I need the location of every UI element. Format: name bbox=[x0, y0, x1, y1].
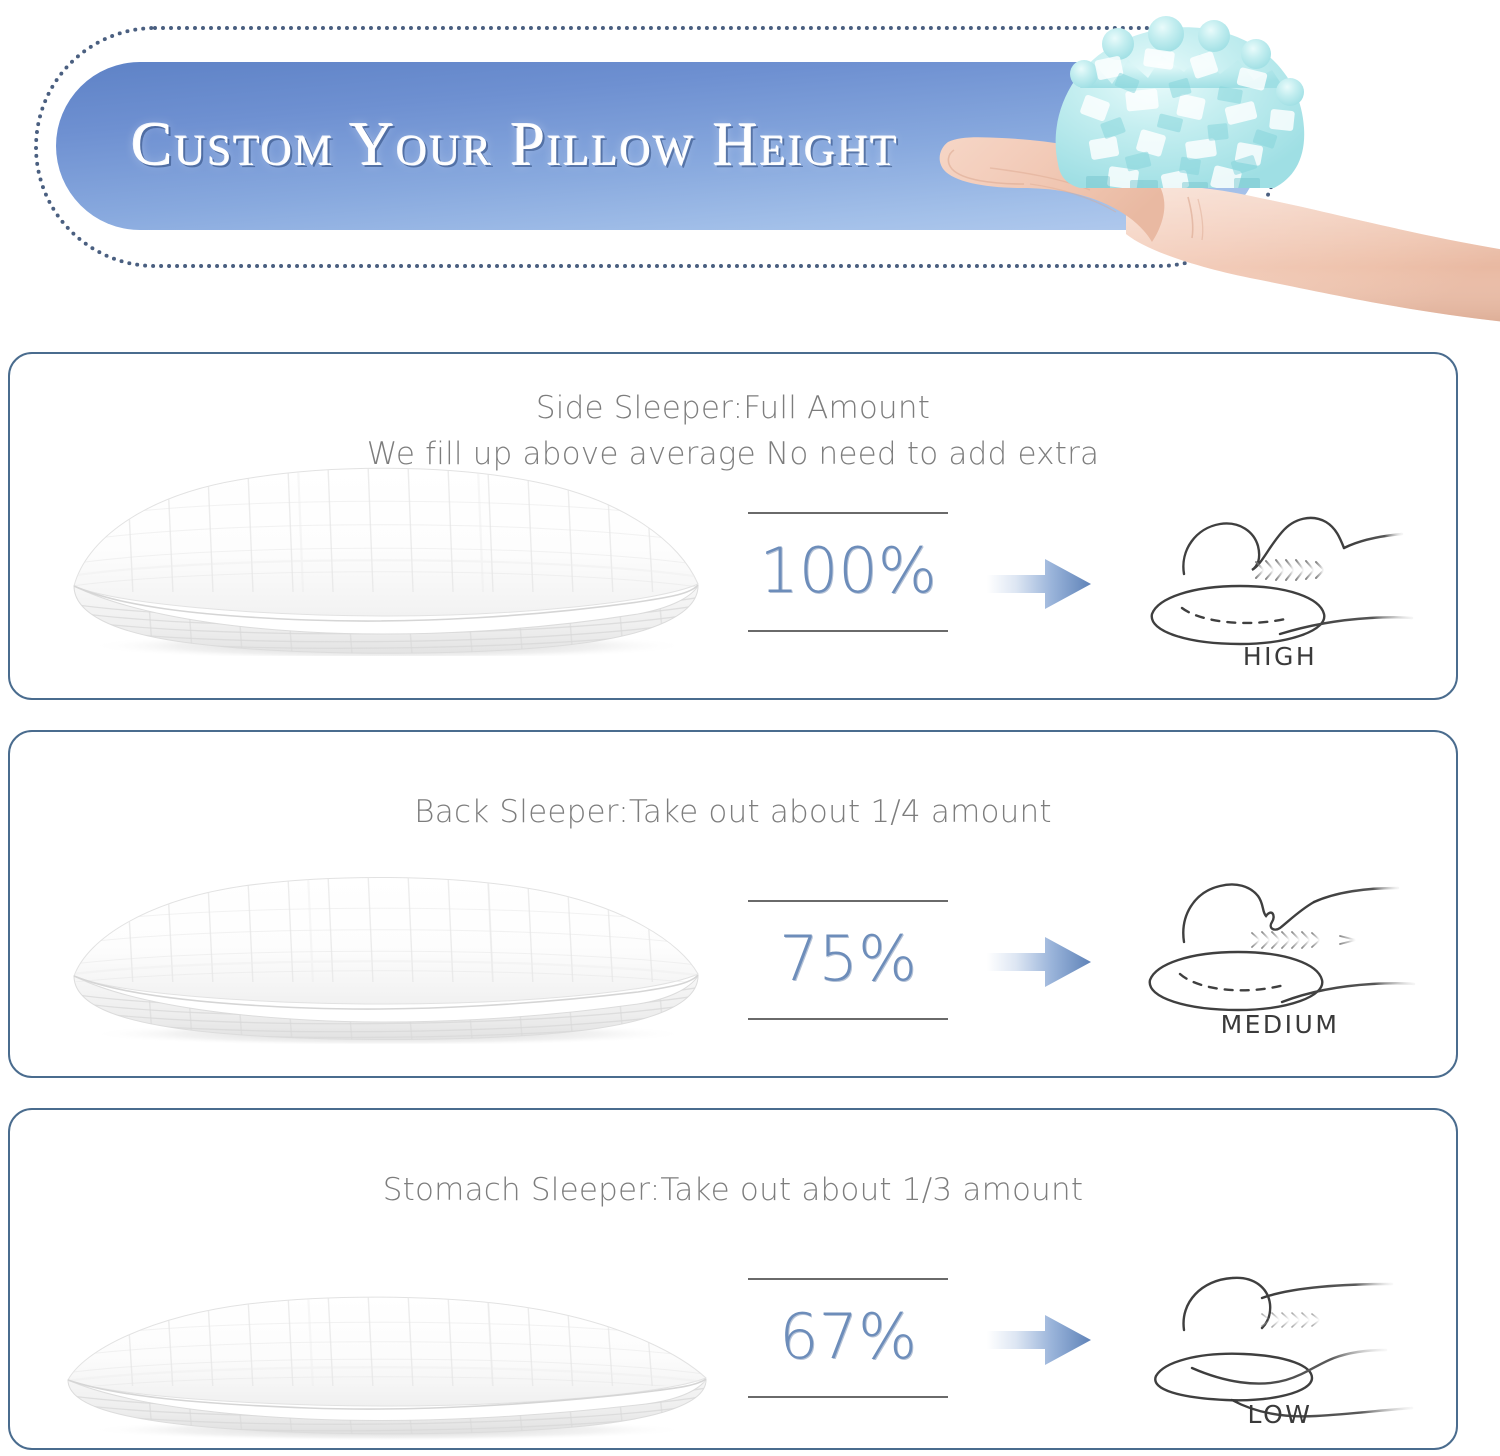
percentage-value: 75% bbox=[743, 902, 953, 1018]
section-card-side-sleeper: Side Sleeper:Full Amount We fill up abov… bbox=[8, 352, 1458, 700]
right-arrow-icon bbox=[985, 555, 1093, 613]
pillow-medium-loft-icon bbox=[58, 854, 718, 1044]
header-banner: Custom Your Pillow Height bbox=[0, 0, 1500, 330]
firmness-label: LOW bbox=[1140, 1400, 1420, 1429]
section-heading-line1: Stomach Sleeper:Take out about 1/3 amoun… bbox=[10, 1172, 1456, 1208]
percentage-rule-bottom bbox=[748, 630, 948, 632]
percentage-block: 100% bbox=[743, 512, 953, 632]
pillow-image-wrap bbox=[58, 466, 718, 656]
right-arrow-icon bbox=[985, 933, 1093, 991]
section-heading-line1: Side Sleeper:Full Amount bbox=[10, 390, 1456, 426]
pillow-image-wrap bbox=[58, 1252, 718, 1442]
section-card-stomach-sleeper: Stomach Sleeper:Take out about 1/3 amoun… bbox=[8, 1108, 1458, 1450]
right-arrow-icon bbox=[985, 1311, 1093, 1369]
percentage-value: 67% bbox=[743, 1280, 953, 1396]
firmness-label: HIGH bbox=[1140, 642, 1420, 671]
percentage-rule-bottom bbox=[748, 1396, 948, 1398]
percentage-block: 67% bbox=[743, 1278, 953, 1398]
section-card-back-sleeper: Back Sleeper:Take out about 1/4 amount bbox=[8, 730, 1458, 1078]
pillow-full-loft-icon bbox=[58, 466, 718, 656]
firmness-label: MEDIUM bbox=[1140, 1010, 1420, 1039]
page-title: Custom Your Pillow Height bbox=[110, 110, 920, 181]
percentage-value: 100% bbox=[743, 514, 953, 630]
percentage-rule-bottom bbox=[748, 1018, 948, 1020]
pillow-image-wrap bbox=[58, 854, 718, 1044]
section-heading-line1: Back Sleeper:Take out about 1/4 amount bbox=[10, 794, 1456, 830]
percentage-block: 75% bbox=[743, 900, 953, 1020]
pillow-low-loft-icon bbox=[58, 1252, 718, 1442]
shredded-memory-foam-in-hand-icon bbox=[930, 0, 1500, 332]
